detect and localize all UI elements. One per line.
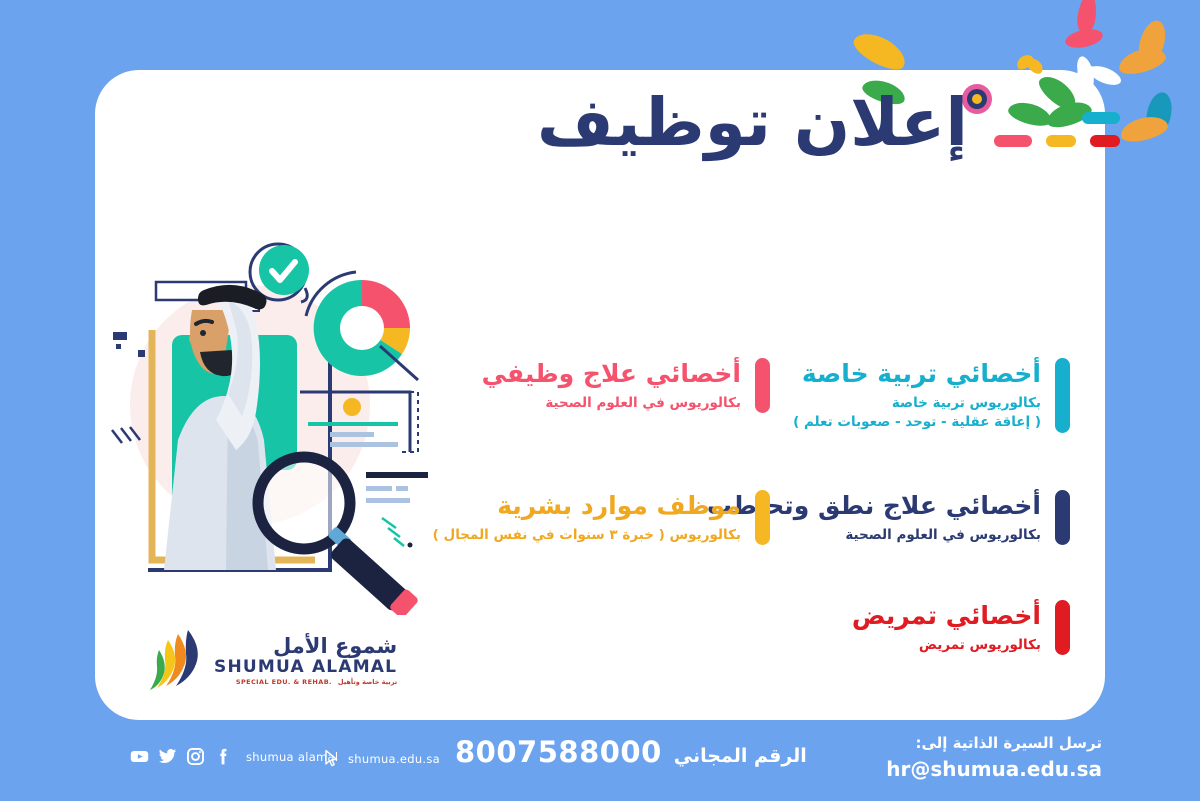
toll-free-phone: الرقم المجاني 8007588000 <box>455 735 807 769</box>
page-title: إعلان توظيف <box>537 90 968 156</box>
leaf-orange-1 <box>1134 18 1170 69</box>
youtube-icon[interactable] <box>130 747 149 766</box>
cv-email[interactable]: hr@shumua.edu.sa <box>886 755 1102 784</box>
recruitment-illustration <box>100 240 450 615</box>
job-title: أخصائي تربية خاصة <box>793 360 1041 389</box>
job-accent-bar <box>1055 358 1070 433</box>
headline-group: إعلان توظيف <box>537 90 1120 156</box>
phone-number[interactable]: 8007588000 <box>455 735 662 769</box>
petal-pink-1 <box>1075 0 1098 35</box>
twitter-icon[interactable] <box>158 747 177 766</box>
leaf-teal-1 <box>1143 90 1176 138</box>
job-card-special-education-specialist[interactable]: أخصائي تربية خاصة بكالوريوس تربية خاصة (… <box>793 358 1070 433</box>
footer-bar: shumua alamal shumua.edu.sa الرقم المجان… <box>0 721 1200 801</box>
logo-tagline-arabic: تربية خاصة وتأهيل <box>338 679 397 686</box>
instagram-icon[interactable] <box>186 747 205 766</box>
logo-wordmark: شموع الأمل SHUMUA ALAMAL SPECIAL EDU. & … <box>214 636 397 686</box>
logo-tagline-english: SPECIAL EDU. & REHAB. <box>236 679 332 686</box>
logo-name-english: SHUMUA ALAMAL <box>214 659 397 676</box>
job-subtitle-primary: بكالوريوس تربية خاصة <box>793 394 1041 414</box>
logo-tagline: SPECIAL EDU. & REHAB. تربية خاصة وتأهيل <box>214 679 397 686</box>
cursor-pointer-icon <box>322 749 341 768</box>
job-accent-bar <box>755 490 770 545</box>
dash-row-bottom <box>994 135 1120 147</box>
job-subtitle-primary: بكالوريوس ( خبرة ٣ سنوات في نفس المجال ) <box>433 526 741 546</box>
organization-logo: شموع الأمل SHUMUA ALAMAL SPECIAL EDU. & … <box>148 628 397 694</box>
leaf-orange-3 <box>1118 113 1170 146</box>
job-title: موظف موارد بشرية <box>433 492 741 521</box>
job-subtitle-primary: بكالوريوس في العلوم الصحية <box>482 394 741 414</box>
logo-flame-icon <box>148 628 204 694</box>
job-subtitle-primary: بكالوريوس تمريض <box>852 636 1041 656</box>
dash-red-icon <box>1090 135 1120 147</box>
job-accent-bar <box>755 358 770 413</box>
cv-label: ترسل السيرة الذاتية إلى: <box>886 733 1102 755</box>
job-title: أخصائي تمريض <box>852 602 1041 631</box>
job-accent-bar <box>1055 600 1070 655</box>
facebook-icon[interactable] <box>214 747 233 766</box>
decorative-dashes <box>994 100 1120 147</box>
leaf-yellow-1 <box>849 26 911 75</box>
petal-pink-2 <box>1064 26 1105 51</box>
cv-submission: ترسل السيرة الذاتية إلى: hr@shumua.edu.s… <box>886 733 1102 784</box>
phone-label: الرقم المجاني <box>674 745 807 767</box>
dash-pink-icon <box>994 135 1032 147</box>
logo-name-arabic: شموع الأمل <box>214 636 397 657</box>
dash-yellow-icon <box>1046 135 1076 147</box>
job-card-occupational-therapy-specialist[interactable]: أخصائي علاج وظيفي بكالوريوس في العلوم ال… <box>482 358 770 413</box>
job-subtitle-secondary: ( إعاقة عقلية - توحد - صعوبات تعلم ) <box>793 413 1041 433</box>
job-card-human-resources-officer[interactable]: موظف موارد بشرية بكالوريوس ( خبرة ٣ سنوا… <box>433 490 770 545</box>
poster-canvas: إعلان توظيف <box>0 0 1200 801</box>
job-title: أخصائي علاج وظيفي <box>482 360 741 389</box>
job-accent-bar <box>1055 490 1070 545</box>
website-label: shumua.edu.sa <box>348 752 440 766</box>
leaf-orange-2 <box>1116 44 1168 78</box>
social-links: shumua alamal <box>130 747 338 766</box>
job-card-nursing-specialist[interactable]: أخصائي تمريض بكالوريوس تمريض <box>852 600 1070 655</box>
dash-row-top <box>994 112 1120 124</box>
dash-teal-icon <box>1082 112 1120 124</box>
website-link[interactable]: shumua.edu.sa <box>322 749 440 768</box>
